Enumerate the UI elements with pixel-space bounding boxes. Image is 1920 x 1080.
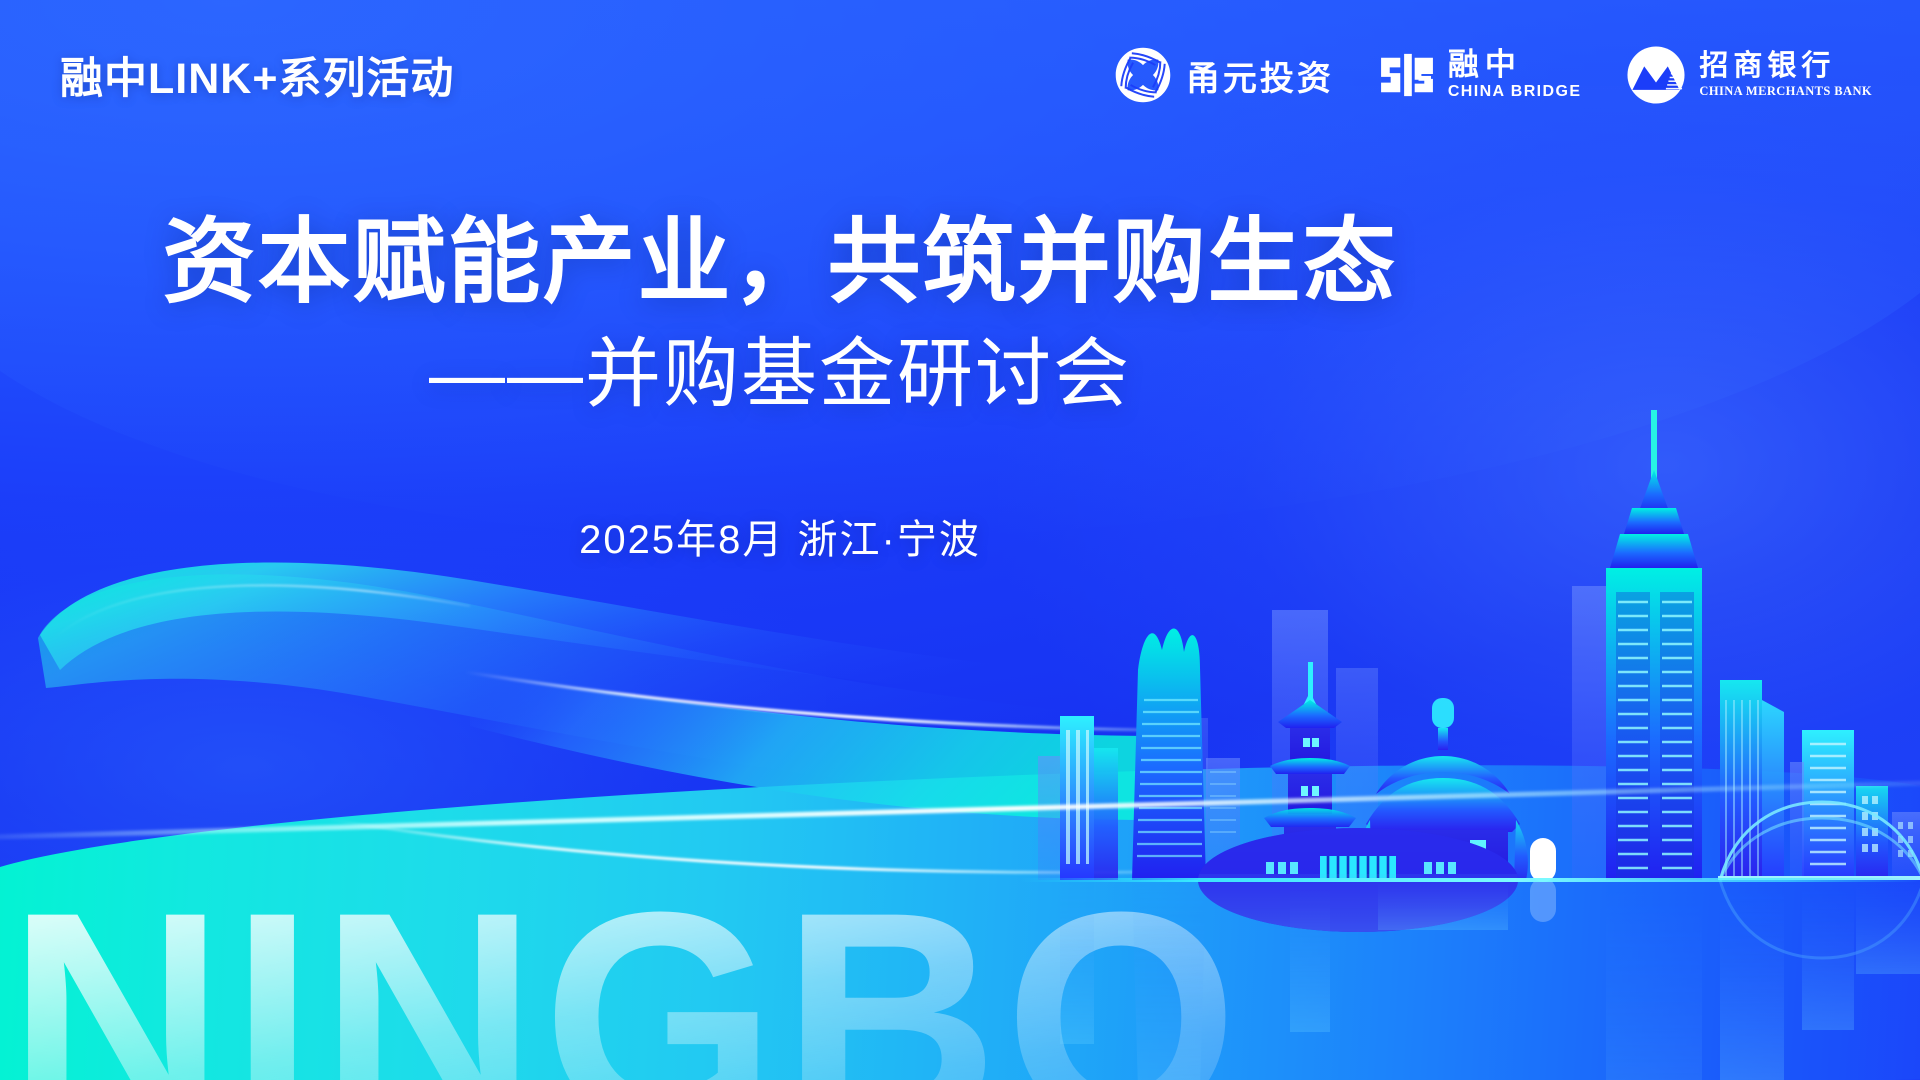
china-bridge-monogram-icon xyxy=(1378,51,1436,99)
logo-cmb-en: CHINA MERCHANTS BANK xyxy=(1699,84,1872,99)
hero-title-block: 资本赋能产业，共筑并购生态 ——并购基金研讨会 2025年8月 浙江·宁波 xyxy=(0,210,1560,565)
logo-yongyuan-investment[interactable]: 甬元投资 xyxy=(1112,44,1334,106)
logo-cmb-cn: 招商银行 xyxy=(1699,51,1872,81)
horizon-line xyxy=(1020,878,1920,882)
cmb-circle-mountain-icon xyxy=(1625,44,1687,106)
logo-yongyuan-cn: 甬元投资 xyxy=(1186,51,1334,100)
logo-china-bridge[interactable]: 融中 CHINA BRIDGE xyxy=(1378,49,1582,102)
hero-title-sub: ——并购基金研讨会 xyxy=(0,326,1560,425)
sponsor-logo-row: 甬元投资 融中 CHINA BRIDGE xyxy=(1112,44,1872,106)
logo-cmb-text: 招商银行 CHINA MERCHANTS BANK xyxy=(1699,51,1872,99)
monument-capsule xyxy=(1530,838,1556,882)
central-supertall-tower xyxy=(1606,410,1702,880)
ribbon-swoosh-decoration xyxy=(0,520,1150,920)
logo-yongyuan-text: 甬元投资 xyxy=(1186,51,1334,100)
four-leaf-circle-emblem-icon xyxy=(1112,44,1174,106)
hero-date-location: 2025年8月 浙江·宁波 xyxy=(0,507,1560,565)
event-poster: NINGBO xyxy=(0,0,1920,1080)
logo-china-bridge-cn: 融中 xyxy=(1448,49,1582,81)
hero-title-main: 资本赋能产业，共筑并购生态 xyxy=(0,210,1560,314)
poster-header: 融中LINK+系列活动 xyxy=(0,0,1920,150)
event-series-title: 融中LINK+系列活动 xyxy=(60,44,454,106)
logo-china-bridge-text: 融中 CHINA BRIDGE xyxy=(1448,49,1582,102)
logo-china-bridge-en: CHINA BRIDGE xyxy=(1448,83,1582,101)
logo-china-merchants-bank[interactable]: 招商银行 CHINA MERCHANTS BANK xyxy=(1625,44,1872,106)
